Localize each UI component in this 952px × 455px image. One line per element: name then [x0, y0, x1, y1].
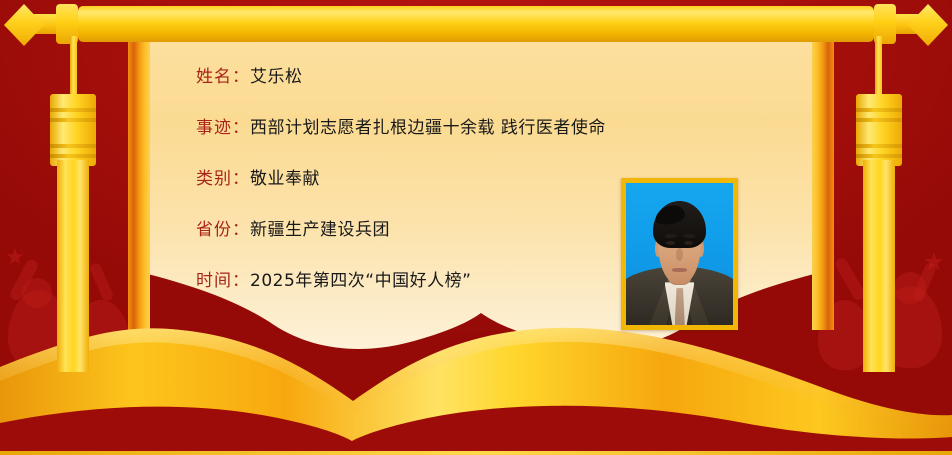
info-value: 艾乐松: [250, 62, 303, 87]
portrait-image: [626, 183, 733, 325]
tassel-column-right: [863, 160, 895, 372]
bottom-gold-line: [0, 451, 952, 455]
info-label: 类别：: [196, 164, 250, 189]
info-label: 事迹：: [196, 113, 250, 138]
info-value: 西部计划志愿者扎根边疆十余载 践行医者使命: [250, 113, 606, 138]
rod-bar: [78, 6, 874, 42]
tassel-spool-right: [856, 94, 902, 166]
bottom-gold-ribbon: [0, 305, 952, 455]
tassel-spool-left: [50, 94, 96, 166]
scroll-left-roll: [128, 33, 150, 330]
award-banner: 姓名： 艾乐松 事迹： 西部计划志愿者扎根边疆十余载 践行医者使命 类别： 敬业…: [0, 0, 952, 455]
info-label: 省份：: [196, 215, 250, 240]
tassel-column-left: [57, 160, 89, 372]
tassel-cord-right: [875, 36, 882, 98]
info-row-name: 姓名： 艾乐松: [196, 62, 756, 87]
info-label: 时间：: [196, 266, 250, 291]
info-value: 2025年第四次“中国好人榜”: [250, 266, 471, 291]
info-row-deeds: 事迹： 西部计划志愿者扎根边疆十余载 践行医者使命: [196, 113, 756, 138]
tassel-cord-left: [70, 36, 77, 98]
info-value: 敬业奉献: [250, 164, 320, 189]
info-label: 姓名：: [196, 62, 250, 87]
info-value: 新疆生产建设兵团: [250, 215, 390, 240]
scroll-right-roll: [812, 33, 834, 330]
portrait-photo: [621, 178, 738, 330]
